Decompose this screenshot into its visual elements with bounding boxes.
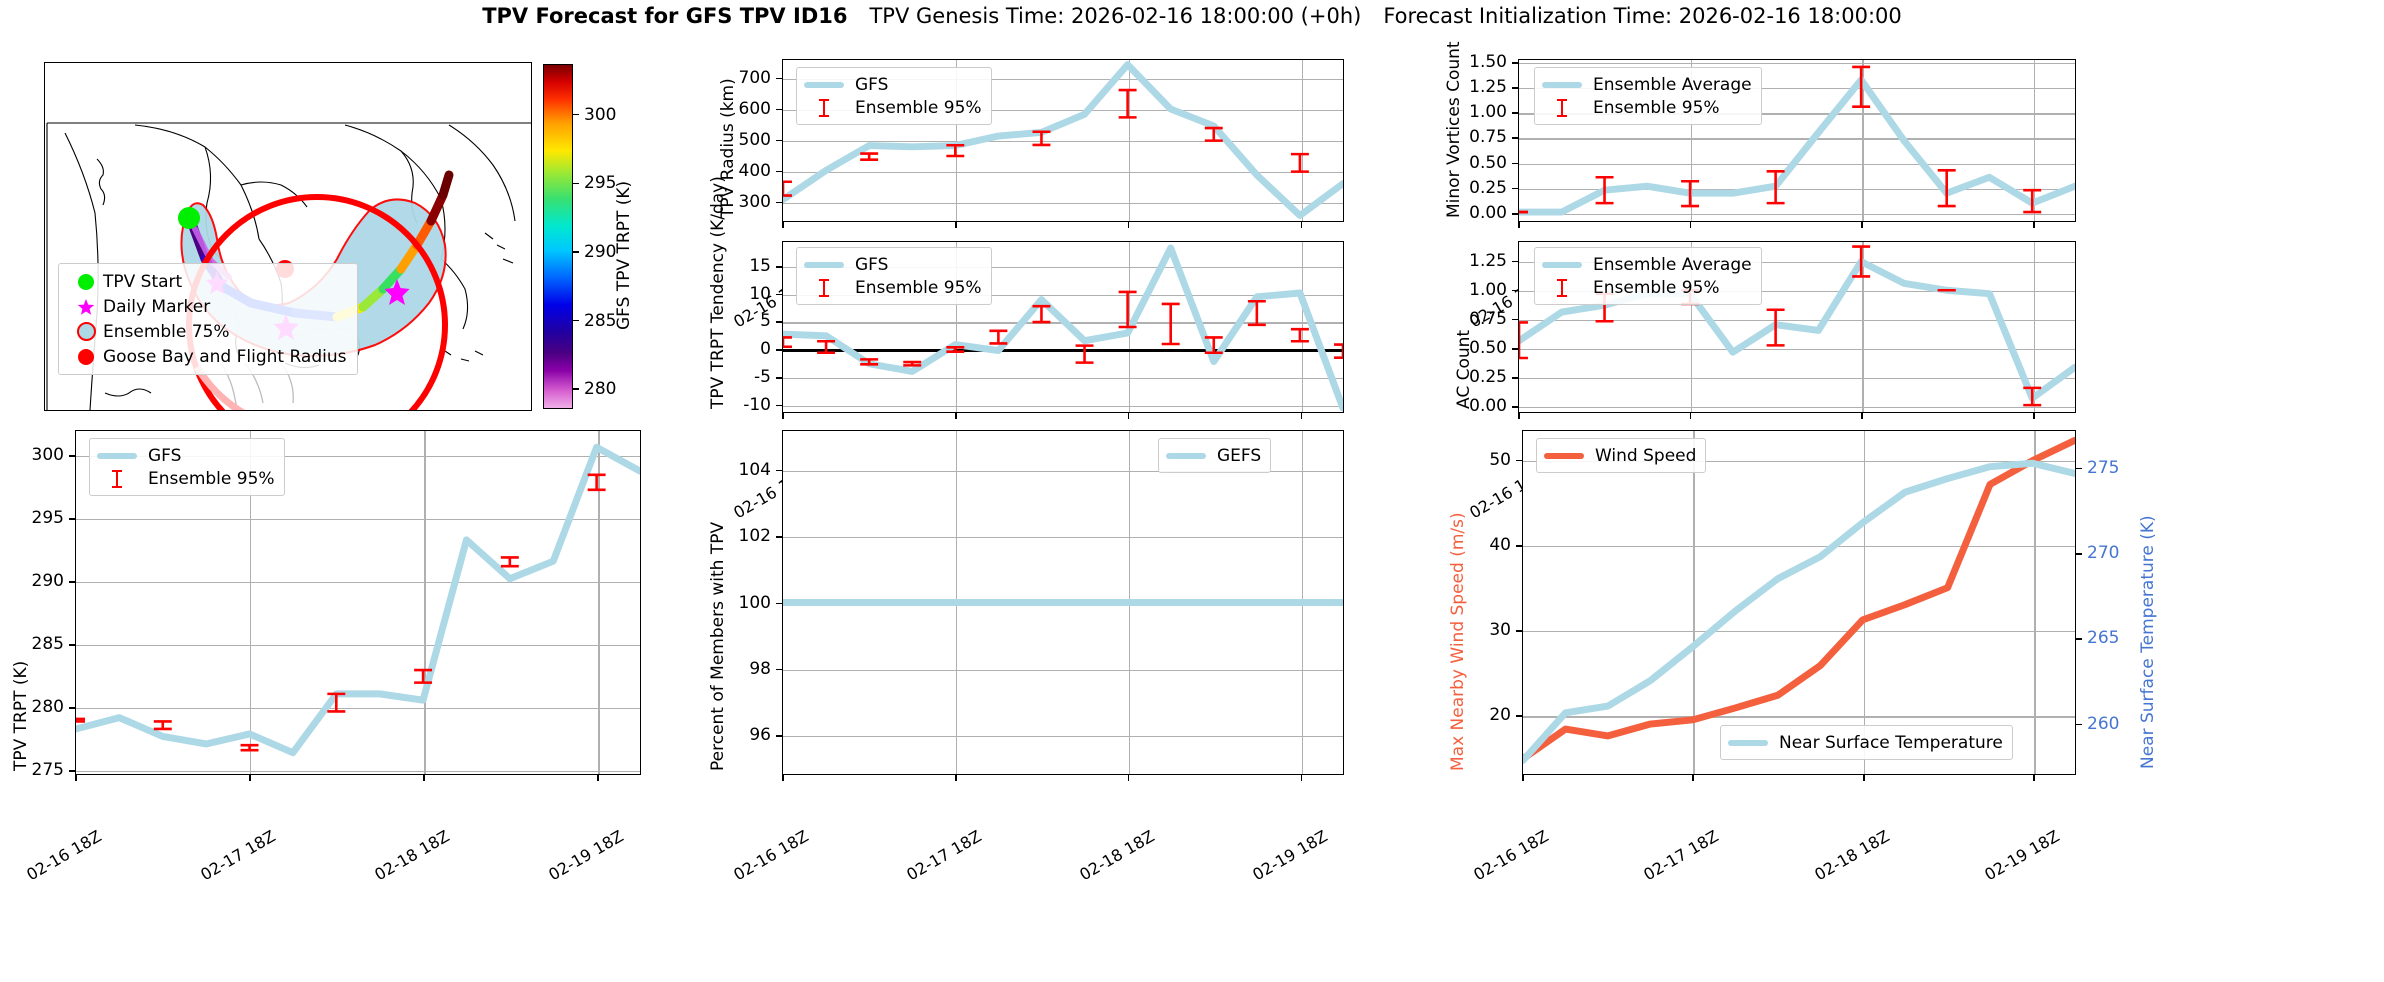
panel-ac-count[interactable]: 0.000.250.500.751.001.2502-16 18Z02-17 1… bbox=[1390, 236, 2120, 422]
map-legend-item-goose-bay: Goose Bay and Flight Radius bbox=[69, 344, 347, 369]
legend-label: Ensemble 95% bbox=[855, 98, 982, 118]
series-layer bbox=[1523, 431, 2075, 774]
legend-tpv-trpt[interactable]: GFSEnsemble 95% bbox=[89, 438, 285, 496]
y-axis-tick-mark bbox=[1516, 545, 1522, 547]
map-legend-label: Ensemble 75% bbox=[103, 322, 230, 342]
panel-tpv-trpt[interactable]: 27528028529029530002-16 18Z02-17 18Z02-1… bbox=[0, 420, 700, 982]
x-axis-tick-label: 02-17 18Z bbox=[903, 826, 984, 884]
x-axis-tick-mark bbox=[955, 413, 957, 419]
x-axis-tick-mark bbox=[1863, 775, 1865, 781]
y-axis-tick-mark bbox=[776, 266, 782, 268]
colorbar-tick: 300 bbox=[572, 105, 616, 125]
y-axis-tick-mark bbox=[776, 109, 782, 111]
x-axis-tick-label: 02-16 18Z bbox=[730, 826, 811, 884]
x-axis-tick-label: 02-18 18Z bbox=[1811, 826, 1892, 884]
plot-area[interactable] bbox=[1522, 430, 2076, 775]
x-axis-tick-label: 02-19 18Z bbox=[546, 826, 627, 884]
y-axis-tick-mark bbox=[1512, 261, 1518, 263]
panel-tpv-trpt-tendency[interactable]: -10-505101502-16 18Z02-17 18Z02-18 18Z02… bbox=[660, 236, 1390, 422]
legend-entry: GFS bbox=[97, 444, 275, 467]
y-axis-tick-mark bbox=[69, 770, 75, 772]
legend-errorbar-swatch-icon bbox=[804, 98, 844, 118]
trpt-colorbar: 300 295 290 285 280 bbox=[543, 64, 573, 409]
x-axis-tick-label: 02-16 18Z bbox=[1470, 826, 1551, 884]
legend-line-swatch-icon bbox=[97, 453, 137, 459]
y-axis-tick-mark bbox=[1512, 406, 1518, 408]
legend-label: GFS bbox=[855, 75, 888, 95]
panel-minor-vortices[interactable]: 0.000.250.500.751.001.251.5002-16 18Z02-… bbox=[1390, 50, 2120, 230]
y-axis-tick-label: 0.75 bbox=[1469, 127, 1507, 147]
legend-line-swatch-icon bbox=[1166, 453, 1206, 459]
legend-label: Wind Speed bbox=[1595, 446, 1696, 466]
y-axis-tick-label: 1.25 bbox=[1469, 77, 1507, 97]
y-axis-right-tick-label: 260 bbox=[2087, 714, 2119, 734]
legend-minor-vortices-count[interactable]: Ensemble AverageEnsemble 95% bbox=[1534, 67, 1762, 125]
y-axis-tick-mark bbox=[69, 581, 75, 583]
y-axis-label: AC Count bbox=[1454, 330, 1474, 409]
map-legend: TPV Start Daily Marker Ensemble 75% Goos… bbox=[58, 263, 358, 375]
y-axis-tick-mark bbox=[776, 349, 782, 351]
colorbar-tick: 280 bbox=[572, 379, 616, 399]
x-axis-tick-label: 02-19 18Z bbox=[1249, 826, 1330, 884]
y-axis-tick-label: 5 bbox=[760, 311, 771, 331]
x-axis-tick-label: 02-17 18Z bbox=[1641, 826, 1722, 884]
x-axis-tick-label: 02-19 18Z bbox=[1982, 826, 2063, 884]
y-axis-tick-label: 102 bbox=[739, 526, 771, 546]
legend-wind-speed[interactable]: Wind Speed bbox=[1536, 438, 1706, 473]
legend-entry: Near Surface Temperature bbox=[1728, 731, 2003, 754]
green-circle-marker-icon bbox=[69, 274, 103, 290]
y-axis-tick-label: 30 bbox=[1489, 620, 1511, 640]
y-axis-tick-label: 300 bbox=[739, 192, 771, 212]
y-axis-label: Max Nearby Wind Speed (m/s) bbox=[1448, 512, 1468, 771]
x-axis-tick-mark bbox=[1690, 413, 1692, 419]
y-axis-tick-label: 1.50 bbox=[1469, 52, 1507, 72]
legend-tpv-radius[interactable]: GFSEnsemble 95% bbox=[796, 67, 992, 125]
plot-area[interactable] bbox=[782, 430, 1344, 775]
y-axis-tick-label: 400 bbox=[739, 161, 771, 181]
legend-entry: Ensemble 95% bbox=[804, 276, 982, 299]
x-axis-tick-mark bbox=[782, 413, 784, 419]
x-axis-tick-mark bbox=[782, 775, 784, 781]
panel-percent-members[interactable]: 969810010210402-16 18Z02-17 18Z02-18 18Z… bbox=[660, 420, 1390, 982]
y-axis-tick-label: 104 bbox=[739, 460, 771, 480]
legend-entry: Ensemble Average bbox=[1542, 73, 1752, 96]
legend-label: Ensemble 95% bbox=[1593, 278, 1720, 298]
tpv-start-marker bbox=[178, 207, 200, 229]
y-axis-tick-mark bbox=[776, 140, 782, 142]
y-axis-tick-mark bbox=[776, 669, 782, 671]
y-axis-tick-mark bbox=[776, 294, 782, 296]
y-axis-tick-mark bbox=[776, 202, 782, 204]
panel-tpv-radius[interactable]: 30040050060070002-16 18Z02-17 18Z02-18 1… bbox=[660, 50, 1390, 230]
lightblue-circle-red-edge-marker-icon bbox=[69, 322, 103, 341]
y-axis-tick-mark bbox=[1512, 348, 1518, 350]
legend-line-swatch-icon bbox=[1544, 453, 1584, 459]
legend-label: Ensemble Average bbox=[1593, 255, 1752, 275]
y-axis-tick-mark bbox=[1512, 188, 1518, 190]
y-axis-tick-mark bbox=[776, 470, 782, 472]
y-axis-tick-label: 280 bbox=[32, 697, 64, 717]
legend-label: Ensemble 95% bbox=[855, 278, 982, 298]
x-axis-tick-label: 02-18 18Z bbox=[1076, 826, 1157, 884]
x-axis-tick-mark bbox=[249, 775, 251, 781]
legend-line-swatch-icon bbox=[1542, 262, 1582, 268]
legend-line-swatch-icon bbox=[1542, 82, 1582, 88]
y-axis-tick-label: 20 bbox=[1489, 705, 1511, 725]
legend-label: Ensemble 95% bbox=[148, 469, 275, 489]
y-axis-tick-label: 1.00 bbox=[1469, 280, 1507, 300]
y-axis-tick-mark bbox=[1512, 319, 1518, 321]
y-axis-tick-label: 0.75 bbox=[1469, 309, 1507, 329]
x-axis-tick-mark bbox=[955, 775, 957, 781]
x-axis-tick-mark bbox=[1128, 222, 1130, 228]
y-axis-tick-label: 0 bbox=[760, 339, 771, 359]
legend-ac-count[interactable]: Ensemble AverageEnsemble 95% bbox=[1534, 247, 1762, 305]
legend-line-swatch-icon bbox=[804, 82, 844, 88]
y-axis-label: Percent of Members with TPV bbox=[708, 522, 728, 771]
y-axis-tick-mark bbox=[776, 78, 782, 80]
x-axis-tick-mark bbox=[1301, 413, 1303, 419]
y-axis-right-tick-mark bbox=[2076, 638, 2082, 640]
colorbar-tick: 295 bbox=[572, 173, 616, 193]
y-axis-tick-mark bbox=[776, 603, 782, 605]
data-series-line bbox=[1523, 463, 2075, 760]
x-axis-tick-mark bbox=[1301, 222, 1303, 228]
red-circle-marker-icon bbox=[69, 349, 103, 365]
y-axis-tick-mark bbox=[1512, 112, 1518, 114]
colorbar-axis-label: GFS TPV TRPT (K) bbox=[614, 181, 634, 330]
y-axis-tick-label: 700 bbox=[739, 68, 771, 88]
y-axis-tick-mark bbox=[776, 377, 782, 379]
y-axis-tick-label: 15 bbox=[749, 256, 771, 276]
map-legend-item-tpv-start: TPV Start bbox=[69, 269, 347, 294]
legend-entry: GEFS bbox=[1166, 444, 1261, 467]
map-legend-label: Goose Bay and Flight Radius bbox=[103, 347, 347, 367]
y-axis-tick-mark bbox=[1516, 715, 1522, 717]
page-title: TPV Forecast for GFS TPV ID16TPV Genesis… bbox=[0, 4, 2384, 28]
panel-wind-temperature[interactable]: 20304050260265270275Near Surface Tempera… bbox=[1390, 420, 2384, 982]
x-axis-tick-mark bbox=[1690, 222, 1692, 228]
y-axis-tick-mark bbox=[69, 455, 75, 457]
legend-entry: Ensemble 95% bbox=[1542, 276, 1752, 299]
x-axis-tick-label: 02-18 18Z bbox=[372, 826, 453, 884]
y-axis-tick-mark bbox=[1516, 460, 1522, 462]
x-axis-tick-label: 02-16 18Z bbox=[23, 826, 104, 884]
y-axis-right-tick-label: 265 bbox=[2087, 628, 2119, 648]
map-legend-label: TPV Start bbox=[103, 272, 182, 292]
page-title-main: TPV Forecast for GFS TPV ID16 bbox=[482, 4, 847, 28]
y-axis-tick-label: 500 bbox=[739, 130, 771, 150]
colorbar-tick: 285 bbox=[572, 311, 616, 331]
legend-entry: Wind Speed bbox=[1544, 444, 1696, 467]
x-axis-tick-mark bbox=[1518, 413, 1520, 419]
y-axis-right-tick-mark bbox=[2076, 468, 2082, 470]
map-legend-item-daily-marker: Daily Marker bbox=[69, 294, 347, 319]
y-axis-tick-label: 0.00 bbox=[1469, 203, 1507, 223]
legend-entry: GFS bbox=[804, 253, 982, 276]
y-axis-tick-label: 0.25 bbox=[1469, 178, 1507, 198]
legend-label: GFS bbox=[148, 446, 181, 466]
y-axis-tick-mark bbox=[1512, 290, 1518, 292]
x-axis-tick-mark bbox=[1128, 413, 1130, 419]
y-axis-tick-label: -10 bbox=[743, 395, 771, 415]
x-axis-tick-label: 02-17 18Z bbox=[197, 826, 278, 884]
x-axis-tick-mark bbox=[597, 775, 599, 781]
y-axis-tick-mark bbox=[776, 321, 782, 323]
y-axis-tick-label: 50 bbox=[1489, 450, 1511, 470]
y-axis-tick-label: 295 bbox=[32, 508, 64, 528]
y-axis-tick-mark bbox=[776, 735, 782, 737]
y-axis-tick-label: 100 bbox=[739, 593, 771, 613]
y-axis-tick-label: 98 bbox=[749, 659, 771, 679]
x-axis-tick-mark bbox=[1301, 775, 1303, 781]
y-axis-tick-mark bbox=[776, 536, 782, 538]
y-axis-tick-label: 0.50 bbox=[1469, 338, 1507, 358]
legend-errorbar-swatch-icon bbox=[804, 278, 844, 298]
legend-entry: GFS bbox=[804, 73, 982, 96]
y-axis-tick-label: 290 bbox=[32, 571, 64, 591]
y-axis-tick-label: 1.25 bbox=[1469, 251, 1507, 271]
y-axis-tick-mark bbox=[1512, 213, 1518, 215]
series-layer bbox=[783, 431, 1343, 774]
x-axis-tick-mark bbox=[1518, 222, 1520, 228]
legend-errorbar-swatch-icon bbox=[1542, 98, 1582, 118]
legend-entry: Ensemble Average bbox=[1542, 253, 1752, 276]
y-axis-label: TPV TRPT Tendency (K/day) bbox=[708, 176, 728, 409]
y-axis-right-tick-mark bbox=[2076, 724, 2082, 726]
y-axis-tick-mark bbox=[69, 518, 75, 520]
y-axis-label: TPV TRPT (K) bbox=[11, 661, 31, 771]
map-legend-label: Daily Marker bbox=[103, 297, 210, 317]
legend-label: Ensemble 95% bbox=[1593, 98, 1720, 118]
x-axis-tick-mark bbox=[1861, 413, 1863, 419]
y-axis-right-label: Near Surface Temperature (K) bbox=[2138, 515, 2158, 769]
legend-errorbar-swatch-icon bbox=[97, 469, 137, 489]
y-axis-tick-label: 40 bbox=[1489, 535, 1511, 555]
y-axis-tick-mark bbox=[1516, 630, 1522, 632]
x-axis-tick-mark bbox=[955, 222, 957, 228]
y-axis-right-tick-mark bbox=[2076, 553, 2082, 555]
map-panel[interactable]: TPV Start Daily Marker Ensemble 75% Goos… bbox=[44, 62, 532, 411]
magenta-star-marker-icon bbox=[69, 298, 103, 316]
y-axis-tick-mark bbox=[1512, 62, 1518, 64]
page-title-genesis: TPV Genesis Time: 2026-02-16 18:00:00 (+… bbox=[869, 4, 1361, 28]
x-axis-tick-mark bbox=[1861, 222, 1863, 228]
legend-errorbar-swatch-icon bbox=[1542, 278, 1582, 298]
y-axis-right-tick-label: 275 bbox=[2087, 458, 2119, 478]
x-axis-tick-mark bbox=[2033, 775, 2035, 781]
legend-label: GEFS bbox=[1217, 446, 1261, 466]
dashboard-root: TPV Forecast for GFS TPV ID16TPV Genesis… bbox=[0, 0, 2384, 982]
page-title-init: Forecast Initialization Time: 2026-02-16… bbox=[1383, 4, 1901, 28]
x-axis-tick-mark bbox=[75, 775, 77, 781]
data-series-line bbox=[1523, 440, 2075, 758]
x-axis-tick-mark bbox=[423, 775, 425, 781]
y-axis-right-tick-label: 270 bbox=[2087, 543, 2119, 563]
y-axis-tick-mark bbox=[69, 707, 75, 709]
y-axis-tick-label: 0.25 bbox=[1469, 367, 1507, 387]
legend-near-surface-temperature[interactable]: Near Surface Temperature bbox=[1720, 725, 2013, 760]
y-axis-tick-label: 1.00 bbox=[1469, 102, 1507, 122]
x-axis-tick-mark bbox=[2033, 222, 2035, 228]
legend-entry: Ensemble 95% bbox=[804, 96, 982, 119]
legend-label: Ensemble Average bbox=[1593, 75, 1752, 95]
y-axis-tick-label: 10 bbox=[749, 284, 771, 304]
y-axis-tick-mark bbox=[1512, 87, 1518, 89]
map-legend-item-ensemble-75: Ensemble 75% bbox=[69, 319, 347, 344]
x-axis-tick-mark bbox=[2033, 413, 2035, 419]
y-axis-tick-label: 300 bbox=[32, 445, 64, 465]
y-axis-tick-label: 600 bbox=[739, 99, 771, 119]
legend-line-swatch-icon bbox=[1728, 740, 1768, 746]
legend-entry: Ensemble 95% bbox=[97, 467, 275, 490]
y-axis-tick-label: 0.00 bbox=[1469, 396, 1507, 416]
legend-label: Near Surface Temperature bbox=[1779, 733, 2003, 753]
y-axis-tick-mark bbox=[776, 405, 782, 407]
x-axis-tick-mark bbox=[1128, 775, 1130, 781]
y-axis-tick-mark bbox=[1512, 163, 1518, 165]
y-axis-tick-label: 285 bbox=[32, 634, 64, 654]
y-axis-tick-mark bbox=[69, 644, 75, 646]
colorbar-tick: 290 bbox=[572, 242, 616, 262]
x-axis-tick-mark bbox=[1692, 775, 1694, 781]
legend-percent-members-with-tpv[interactable]: GEFS bbox=[1158, 438, 1271, 473]
y-axis-tick-mark bbox=[1512, 137, 1518, 139]
x-axis-tick-mark bbox=[1522, 775, 1524, 781]
legend-label: GFS bbox=[855, 255, 888, 275]
legend-entry: Ensemble 95% bbox=[1542, 96, 1752, 119]
y-axis-tick-label: -5 bbox=[754, 367, 771, 387]
y-axis-tick-label: 275 bbox=[32, 760, 64, 780]
y-axis-tick-mark bbox=[1512, 377, 1518, 379]
y-axis-label: Minor Vortices Count bbox=[1444, 41, 1464, 218]
y-axis-tick-label: 96 bbox=[749, 725, 771, 745]
x-axis-tick-mark bbox=[782, 222, 784, 228]
legend-tpv-trpt-tendency[interactable]: GFSEnsemble 95% bbox=[796, 247, 992, 305]
y-axis-tick-label: 0.50 bbox=[1469, 153, 1507, 173]
y-axis-tick-mark bbox=[776, 171, 782, 173]
legend-line-swatch-icon bbox=[804, 262, 844, 268]
